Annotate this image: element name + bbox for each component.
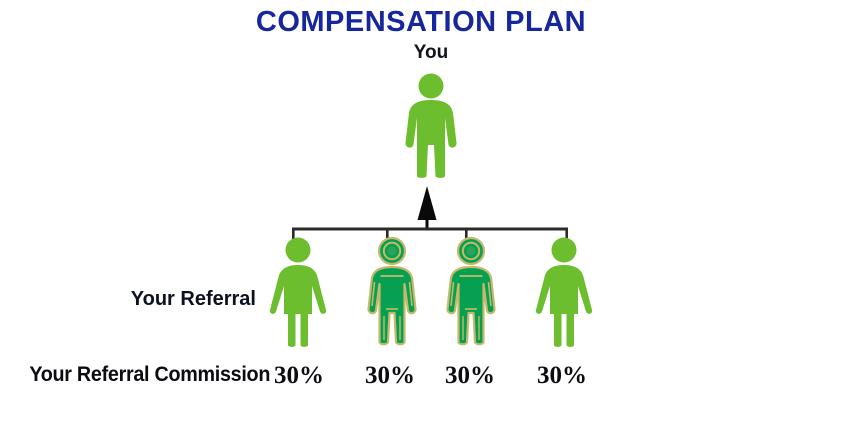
referral-person-male-icon-2 xyxy=(356,236,428,348)
commission-value-4: 30% xyxy=(527,362,597,390)
connector-bracket xyxy=(270,182,590,242)
compensation-plan-diagram: COMPENSATION PLAN You xyxy=(0,0,842,421)
referral-person-female-icon-4 xyxy=(528,236,600,348)
page-title: COMPENSATION PLAN xyxy=(0,6,842,39)
commission-value-1: 30% xyxy=(264,362,334,390)
referral-row-label: Your Referral xyxy=(0,288,262,311)
root-person-male-icon xyxy=(398,73,464,178)
arrow-up-icon xyxy=(418,186,437,229)
referral-person-male-icon-3 xyxy=(435,236,507,348)
commission-row-label: Your Referral Commission xyxy=(16,363,272,387)
root-node-label: You xyxy=(381,42,481,64)
referral-person-female-icon-1 xyxy=(262,236,334,348)
commission-value-3: 30% xyxy=(435,362,505,390)
commission-value-2: 30% xyxy=(355,362,425,390)
